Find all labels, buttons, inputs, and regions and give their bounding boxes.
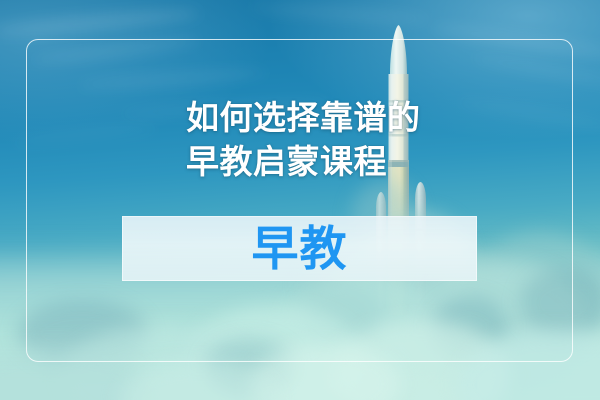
rocket-nose-cone (390, 25, 407, 74)
smoke-shadow (520, 268, 600, 338)
keyword-banner: 早教 (122, 216, 477, 281)
poster-canvas: 如何选择靠谱的 早教启蒙课程 早教 (0, 0, 600, 400)
headline-line-2: 早教启蒙课程 (186, 140, 526, 184)
keyword-label: 早教 (252, 225, 348, 272)
headline-line-1: 如何选择靠谱的 (186, 96, 526, 140)
page-title: 如何选择靠谱的 早教启蒙课程 (186, 96, 526, 184)
